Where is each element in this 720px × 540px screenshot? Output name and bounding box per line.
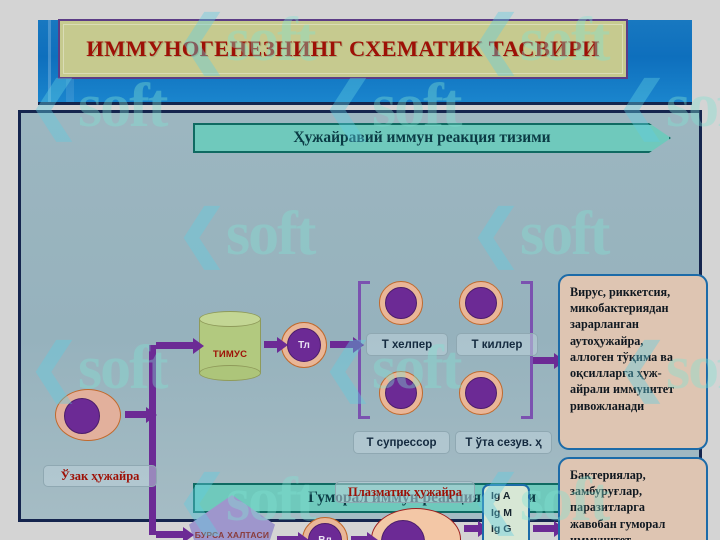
title-bar-highlight [48,20,51,102]
title-plate: ИММУНОГЕНЕЗНИНГ СХЕМАТИК ТАСВИРИ [58,19,628,79]
connector-vertical-split [149,345,156,535]
t-helper-label: Т хелпер [366,333,448,356]
diagram-frame: Ҳужайравий иммун реакция тизими Гуморал … [18,110,702,522]
t-killer-label: Т киллер [456,333,538,356]
arrow-plasma-cell-to-immunoglobulins [464,525,479,532]
stem-cell-nucleus [64,398,100,434]
thymus-bottom-ellipse [199,365,261,381]
b-lymphocyte-nucleus: Вл [308,523,342,540]
b-lymphocyte-label: Вл [318,535,332,540]
t-suppressor-nucleus [385,377,417,409]
bursa-label: БУРСА ХАЛТАСИ [195,530,269,540]
thymus-top-ellipse [199,311,261,327]
immunoglobulin-box: Ig A Ig M Ig G Ig E Ig D [482,484,530,540]
arrow-b-lymphocyte-to-plasma-cell [351,536,368,540]
thymus-label: ТИМУС [199,349,261,360]
cellular-immunity-description-box: Вирус, риккетсия, микобактериядан зарарл… [558,274,708,450]
t-hypersensitive-label: Т ўта сезув. ҳ [455,431,552,454]
arrow-immunoglobulins-to-humoral-description [533,525,555,532]
t-killer-nucleus [465,287,497,319]
immunoglobulin-item: Ig M [491,505,512,521]
immunoglobulin-item: Ig G [491,521,511,537]
t-lymphocyte-nucleus: Тл [287,328,321,362]
immunoglobulin-item: Ig A [491,488,510,504]
cellular-immunity-description-text: Вирус, риккетсия, микобактериядан зарарл… [570,284,698,414]
t-suppressor-cell-shape [379,371,423,415]
t-hypersensitive-nucleus [465,377,497,409]
thymus-shape: ТИМУС [199,311,261,381]
humoral-immunity-description-box: Бактериялар, замбуруғлар, паразитларга ж… [558,457,708,540]
t-suppressor-label: Т супрессор [353,431,450,454]
plasma-cell-nucleus [381,520,425,540]
t-helper-cell-shape [379,281,423,325]
arrow-stem-to-split [125,411,147,418]
page-title: ИММУНОГЕНЕЗНИНГ СХЕМАТИК ТАСВИРИ [86,36,599,62]
t-helper-nucleus [385,287,417,319]
banner-cellular-immune-system: Ҳужайравий иммун реакция тизими [193,123,671,153]
arrow-t-lymphocyte-to-group [330,341,354,348]
stem-cell-label: Ўзак ҳужайра [43,465,157,487]
slide-canvas: ИММУНОГЕНЕЗНИНГ СХЕМАТИК ТАСВИРИ Ҳужайра… [0,0,720,540]
arrow-split-to-bursa [156,531,184,538]
arrow-bursa-to-b-lymphocyte [277,536,299,540]
stem-cell-shape [55,389,121,441]
t-hypersensitive-cell-shape [459,371,503,415]
banner-cellular-label: Ҳужайравий иммун реакция тизими [293,129,570,147]
humoral-immunity-description-text: Бактериялар, замбуруғлар, паразитларга ж… [570,467,698,540]
plasma-cell-label: Плазматик ҳужайра [335,481,475,503]
t-killer-cell-shape [459,281,503,325]
arrow-split-to-thymus [156,342,194,349]
arrow-thymus-to-t-lymphocyte [264,341,278,348]
t-lymphocyte-label: Тл [298,340,310,351]
arrow-t-group-to-cellular-description [533,357,555,364]
